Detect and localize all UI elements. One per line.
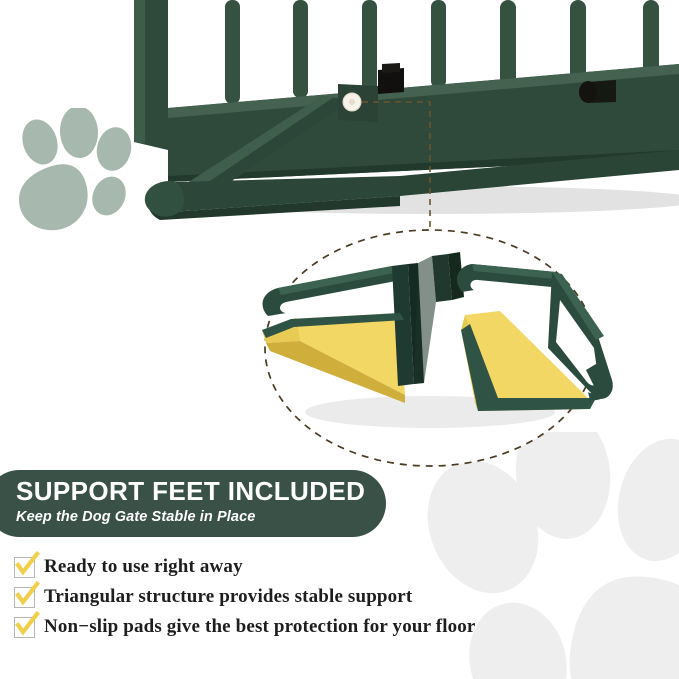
- page-title: SUPPORT FEET INCLUDED: [16, 476, 386, 506]
- check-icon: [14, 617, 35, 638]
- list-item-label: Non−slip pads give the best protection f…: [44, 616, 476, 638]
- page-subtitle: Keep the Dog Gate Stable in Place: [16, 507, 386, 527]
- feature-list: Ready to use right away Triangular struc…: [0, 552, 660, 642]
- fastener-knob: [343, 93, 361, 111]
- list-item: Non−slip pads give the best protection f…: [0, 612, 660, 642]
- headline-banner: SUPPORT FEET INCLUDED Keep the Dog Gate …: [0, 470, 386, 537]
- list-item: Ready to use right away: [0, 552, 660, 582]
- list-item: Triangular structure provides stable sup…: [0, 582, 660, 612]
- list-item-label: Ready to use right away: [44, 556, 243, 578]
- list-item-label: Triangular structure provides stable sup…: [44, 586, 412, 608]
- check-icon: [14, 557, 35, 578]
- product-feature-graphic: SUPPORT FEET INCLUDED Keep the Dog Gate …: [0, 0, 679, 679]
- product-photo-dog-gate: [0, 0, 679, 470]
- check-icon: [14, 587, 35, 608]
